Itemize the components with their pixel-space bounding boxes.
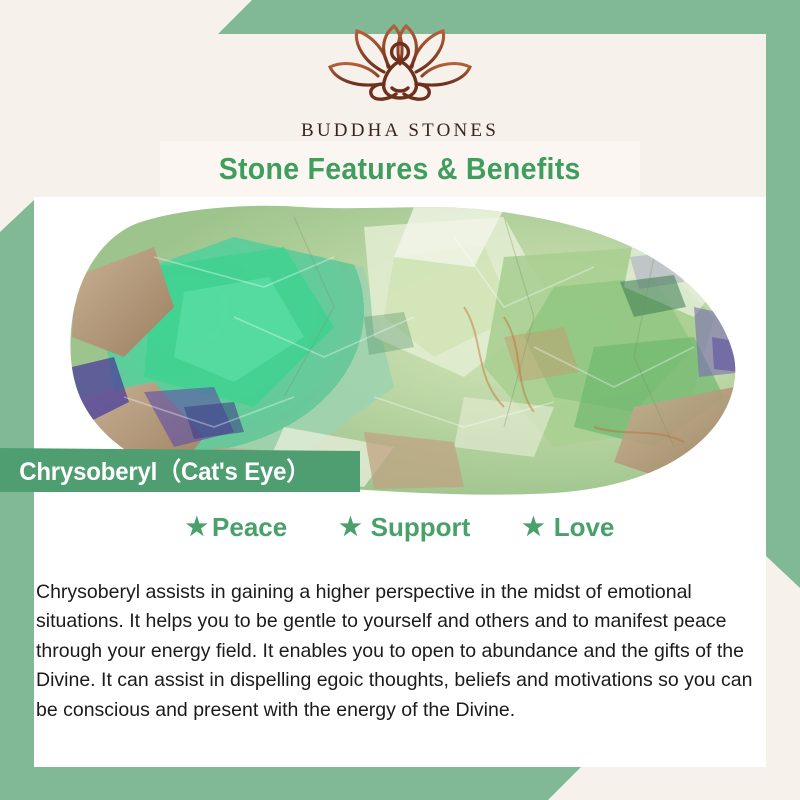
infographic-page: BUDDHA STONES Stone Features & Benefits bbox=[0, 0, 800, 800]
brand-logo: BUDDHA STONES bbox=[0, 22, 800, 142]
star-icon: ★ bbox=[522, 515, 544, 540]
stone-name-ribbon: Chrysoberyl（Cat's Eye） bbox=[0, 448, 360, 492]
star-icon: ★ bbox=[339, 515, 361, 540]
benefit-item-support: ★ Support bbox=[339, 512, 470, 543]
benefit-label: Love bbox=[554, 512, 615, 543]
benefits-row: ★ Peace ★ Support ★ Love bbox=[34, 512, 766, 543]
lotus-meditation-icon bbox=[316, 22, 484, 114]
stone-name-label: Chrysoberyl（Cat's Eye） bbox=[0, 452, 310, 488]
brand-wordmark: BUDDHA STONES bbox=[0, 120, 800, 142]
description-text: Chrysoberyl assists in gaining a higher … bbox=[36, 578, 758, 726]
frame-band-left bbox=[0, 200, 34, 800]
benefit-item-love: ★ Love bbox=[522, 512, 614, 543]
star-icon: ★ bbox=[186, 515, 208, 540]
page-title: Stone Features & Benefits bbox=[219, 151, 581, 187]
title-banner: Stone Features & Benefits bbox=[160, 141, 640, 197]
frame-band-bottom bbox=[0, 766, 582, 800]
benefit-label: Support bbox=[371, 512, 471, 543]
benefit-label: Peace bbox=[212, 512, 287, 543]
benefit-item-peace: ★ Peace bbox=[186, 512, 288, 543]
